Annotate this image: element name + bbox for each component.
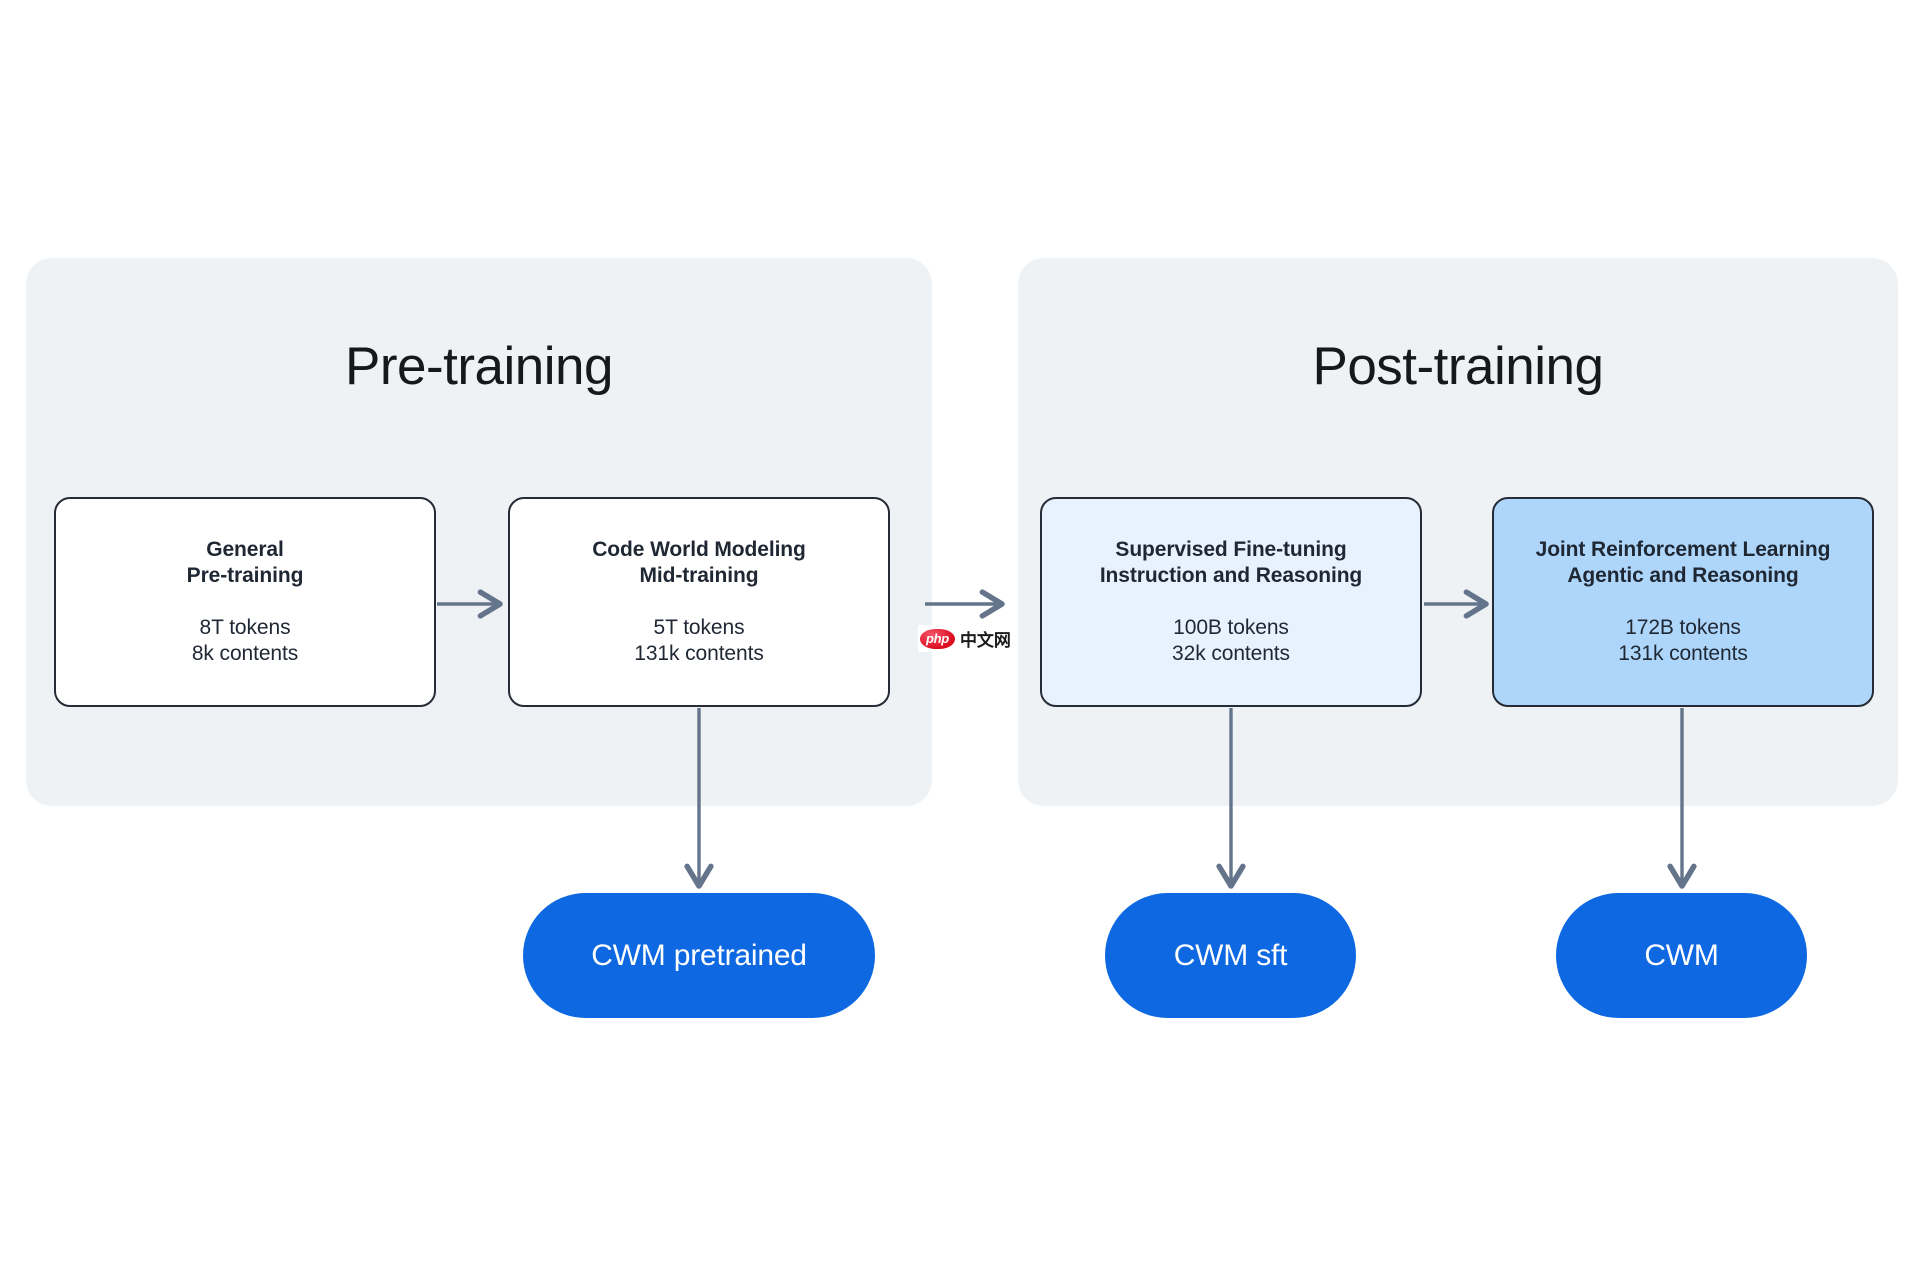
php-logo-icon: php: [920, 629, 955, 649]
diagram-canvas: Pre-training Post-training General Pre-t…: [0, 0, 1920, 1270]
stage-box-title: General Pre-training: [187, 537, 304, 589]
stage-box-joint-reinforcement-learning[interactable]: Joint Reinforcement Learning Agentic and…: [1492, 497, 1874, 707]
output-pill-label: CWM sft: [1174, 939, 1288, 973]
stage-box-stats: 172B tokens 131k contents: [1618, 615, 1747, 667]
stage-box-supervised-fine-tuning[interactable]: Supervised Fine-tuning Instruction and R…: [1040, 497, 1422, 707]
stage-box-stats: 100B tokens 32k contents: [1172, 615, 1290, 667]
output-pill-label: CWM: [1644, 939, 1718, 973]
stage-box-stats: 5T tokens 131k contents: [634, 615, 763, 667]
output-pill-cwm[interactable]: CWM: [1556, 893, 1807, 1018]
output-pill-cwm-sft[interactable]: CWM sft: [1105, 893, 1356, 1018]
stage-box-stats: 8T tokens 8k contents: [192, 615, 298, 667]
watermark-text: 中文网: [960, 626, 1011, 651]
output-pill-label: CWM pretrained: [591, 939, 807, 973]
section-title-post-training: Post-training: [1018, 336, 1898, 397]
stage-box-general-pretraining[interactable]: General Pre-training 8T tokens 8k conten…: [54, 497, 436, 707]
stage-box-title: Supervised Fine-tuning Instruction and R…: [1100, 537, 1362, 589]
section-title-pre-training: Pre-training: [26, 336, 932, 397]
stage-box-title: Code World Modeling Mid-training: [592, 537, 806, 589]
output-pill-cwm-pretrained[interactable]: CWM pretrained: [523, 893, 875, 1018]
stage-box-code-world-modeling-midtraining[interactable]: Code World Modeling Mid-training 5T toke…: [508, 497, 890, 707]
watermark: php 中文网: [918, 625, 1013, 652]
stage-box-title: Joint Reinforcement Learning Agentic and…: [1536, 537, 1831, 589]
